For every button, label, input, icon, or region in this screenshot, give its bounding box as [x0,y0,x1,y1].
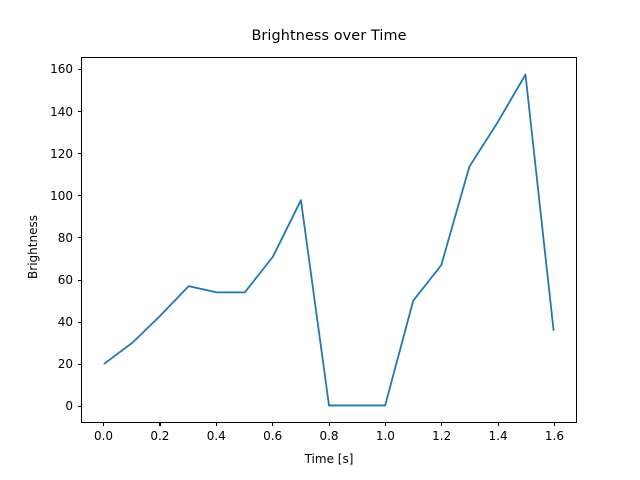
chart-title: Brightness over Time [81,28,577,44]
x-tick-label: 0.6 [263,429,282,443]
x-tick-mark [272,423,273,427]
y-tick-label: 60 [0,273,73,287]
x-tick-label: 1.6 [545,429,564,443]
x-tick-mark [159,423,160,427]
x-tick-mark [554,423,555,427]
x-tick-mark [329,423,330,427]
y-tick-label: 160 [0,62,73,76]
x-tick-mark [441,423,442,427]
plot-area [81,57,577,423]
y-tick-label: 0 [0,399,73,413]
y-tick-label: 20 [0,357,73,371]
x-tick-mark [103,423,104,427]
x-axis-label: Time [s] [81,452,577,466]
y-tick-label: 80 [0,231,73,245]
x-tick-mark [385,423,386,427]
x-tick-label: 0.8 [319,429,338,443]
y-tick-label: 140 [0,105,73,119]
x-tick-mark [498,423,499,427]
x-tick-label: 1.0 [376,429,395,443]
x-tick-label: 0.0 [94,429,113,443]
x-tick-mark [216,423,217,427]
x-tick-label: 0.4 [207,429,226,443]
y-tick-label: 100 [0,189,73,203]
y-tick-label: 40 [0,315,73,329]
y-tick-label: 120 [0,147,73,161]
x-tick-label: 1.4 [489,429,508,443]
data-line-series [82,58,576,422]
brightness-line [104,75,553,406]
x-tick-label: 0.2 [150,429,169,443]
x-tick-label: 1.2 [432,429,451,443]
chart-figure: Brightness over Time Brightness Time [s]… [0,0,640,480]
